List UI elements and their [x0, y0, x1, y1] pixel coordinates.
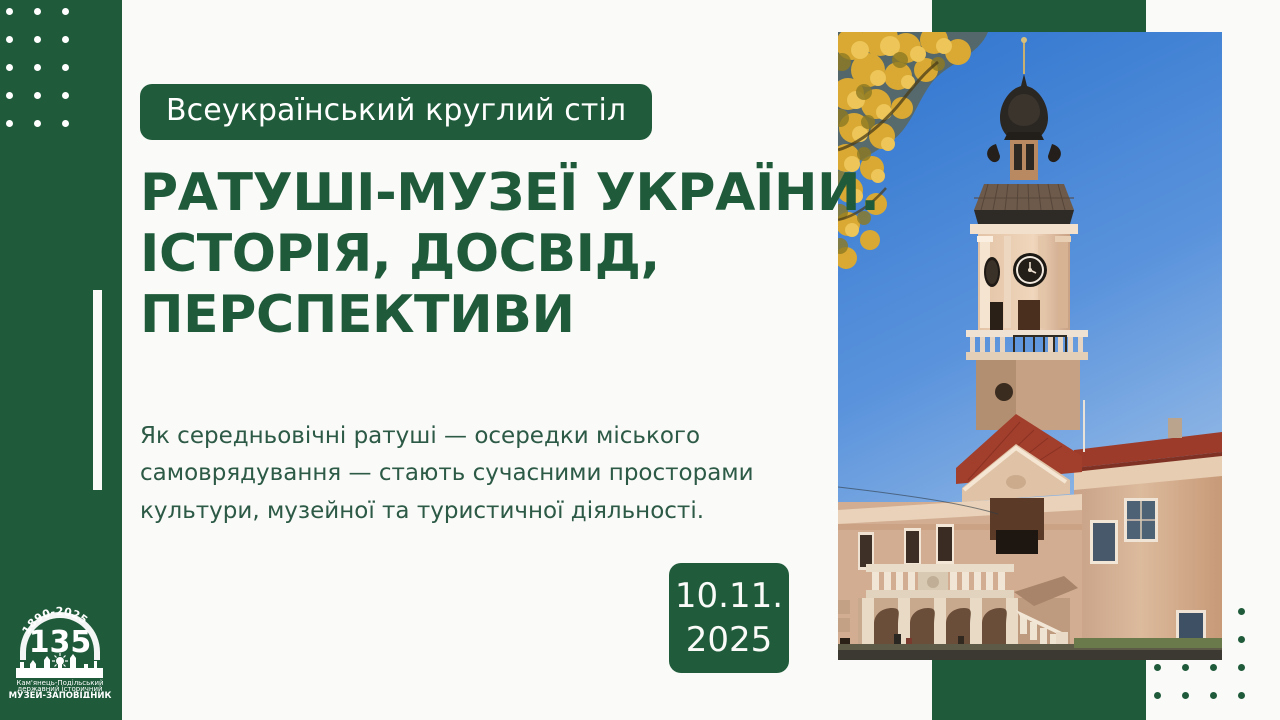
slide-content: Всеукраїнський круглий стіл РАТУШІ-МУЗЕЇ…	[140, 0, 840, 720]
svg-text:МУЗЕЙ-ЗАПОВІДНИК: МУЗЕЙ-ЗАПОВІДНИК	[9, 689, 112, 698]
decorative-dot	[1182, 692, 1189, 699]
decorative-dot	[6, 36, 13, 43]
page-title: РАТУШІ-МУЗЕЇ УКРАЇНИ. ІСТОРІЯ, ДОСВІД, П…	[140, 163, 850, 345]
decorative-dot	[62, 8, 69, 15]
decorative-dot	[1126, 664, 1133, 671]
decorative-dot	[6, 120, 13, 127]
decorative-dot	[34, 8, 41, 15]
presentation-slide: 1890-2025 135 Кам'янець-Подільський держ…	[0, 0, 1280, 720]
decorative-dot	[6, 8, 13, 15]
decorative-dot	[1126, 692, 1133, 699]
decorative-dot	[1238, 608, 1245, 615]
title-line-2: ІСТОРІЯ, ДОСВІД,	[140, 224, 850, 285]
title-line-3: ПЕРСПЕКТИВИ	[140, 285, 850, 346]
date-year: 2025	[686, 618, 773, 662]
decorative-dot	[34, 64, 41, 71]
decorative-dot	[6, 64, 13, 71]
left-dot-pattern	[6, 8, 86, 153]
event-type-badge: Всеукраїнський круглий стіл	[140, 84, 652, 140]
decorative-dot	[1182, 664, 1189, 671]
decorative-dot	[1154, 692, 1161, 699]
decorative-dot	[62, 64, 69, 71]
decorative-dot	[62, 92, 69, 99]
decorative-dot	[6, 92, 13, 99]
decorative-dot	[34, 120, 41, 127]
museum-logo: 1890-2025 135 Кам'янець-Подільський держ…	[6, 590, 114, 698]
white-accent-bar	[93, 290, 102, 490]
decorative-dot	[1238, 692, 1245, 699]
decorative-dot	[34, 36, 41, 43]
decorative-dot	[62, 120, 69, 127]
decorative-dot	[1238, 636, 1245, 643]
description-text: Як середньовічні ратуші — осередки міськ…	[140, 418, 800, 530]
title-line-1: РАТУШІ-МУЗЕЇ УКРАЇНИ.	[140, 163, 850, 224]
decorative-dot	[1154, 664, 1161, 671]
decorative-dot	[62, 36, 69, 43]
town-hall-photo	[838, 32, 1222, 660]
date-badge: 10.11. 2025	[669, 563, 789, 673]
decorative-dot	[1238, 664, 1245, 671]
decorative-dot	[1210, 692, 1217, 699]
decorative-dot	[34, 92, 41, 99]
date-day-month: 10.11.	[675, 574, 783, 618]
decorative-dot	[1210, 664, 1217, 671]
